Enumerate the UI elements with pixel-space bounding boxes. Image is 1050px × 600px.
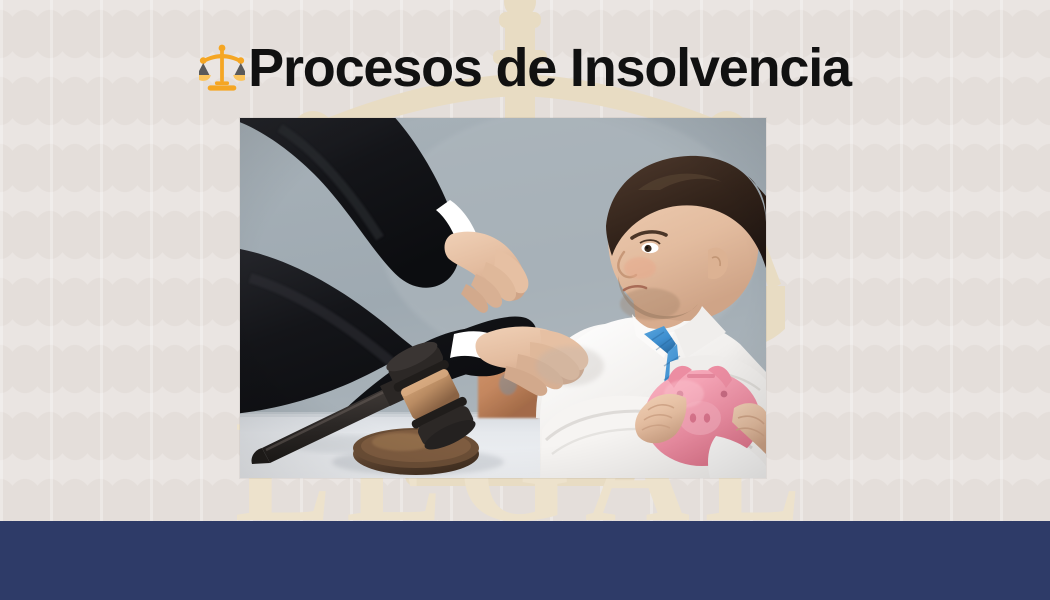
slide-root: LEGAL (0, 0, 1050, 600)
page-title: Procesos de Insolvencia (248, 41, 851, 95)
bottom-accent-band (0, 521, 1050, 600)
balance-scale-icon (199, 42, 245, 94)
insolvency-photo (240, 118, 766, 478)
page-title-row: Procesos de Insolvencia (0, 41, 1050, 95)
